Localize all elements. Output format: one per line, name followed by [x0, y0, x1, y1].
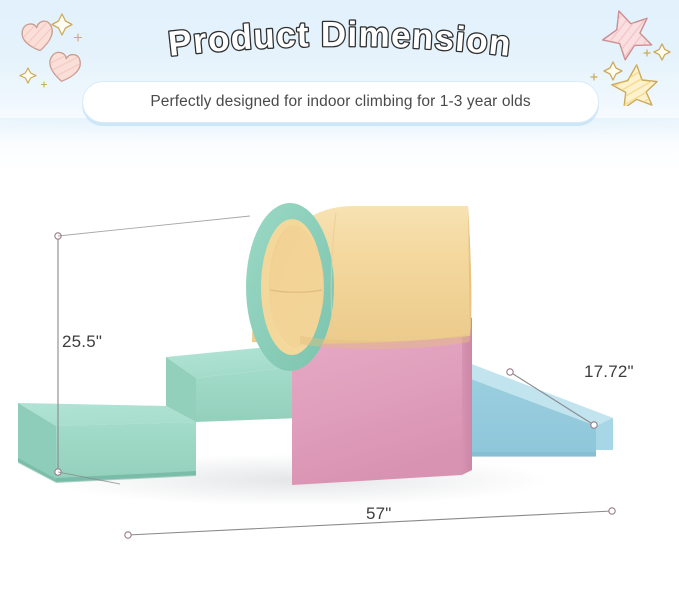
- page-title: Product Dimension: [0, 16, 679, 72]
- sparkle-icon: [42, 82, 47, 87]
- dimension-label-depth: 17.72": [584, 362, 634, 382]
- sparkle-icon: [591, 74, 597, 80]
- page-title-text: Product Dimension: [166, 16, 513, 64]
- dimension-label-width: 57": [366, 504, 392, 524]
- dimension-label-height: 25.5": [62, 332, 102, 352]
- tunnel-arch: [246, 203, 471, 371]
- svg-text:Product Dimension: Product Dimension: [166, 16, 513, 64]
- subtitle-pill: Perfectly designed for indoor climbing f…: [82, 81, 599, 123]
- subtitle-text: Perfectly designed for indoor climbing f…: [150, 93, 530, 111]
- product-illustration: [0, 150, 679, 570]
- infographic-root: Product Dimension Perfectly designed for…: [0, 0, 679, 601]
